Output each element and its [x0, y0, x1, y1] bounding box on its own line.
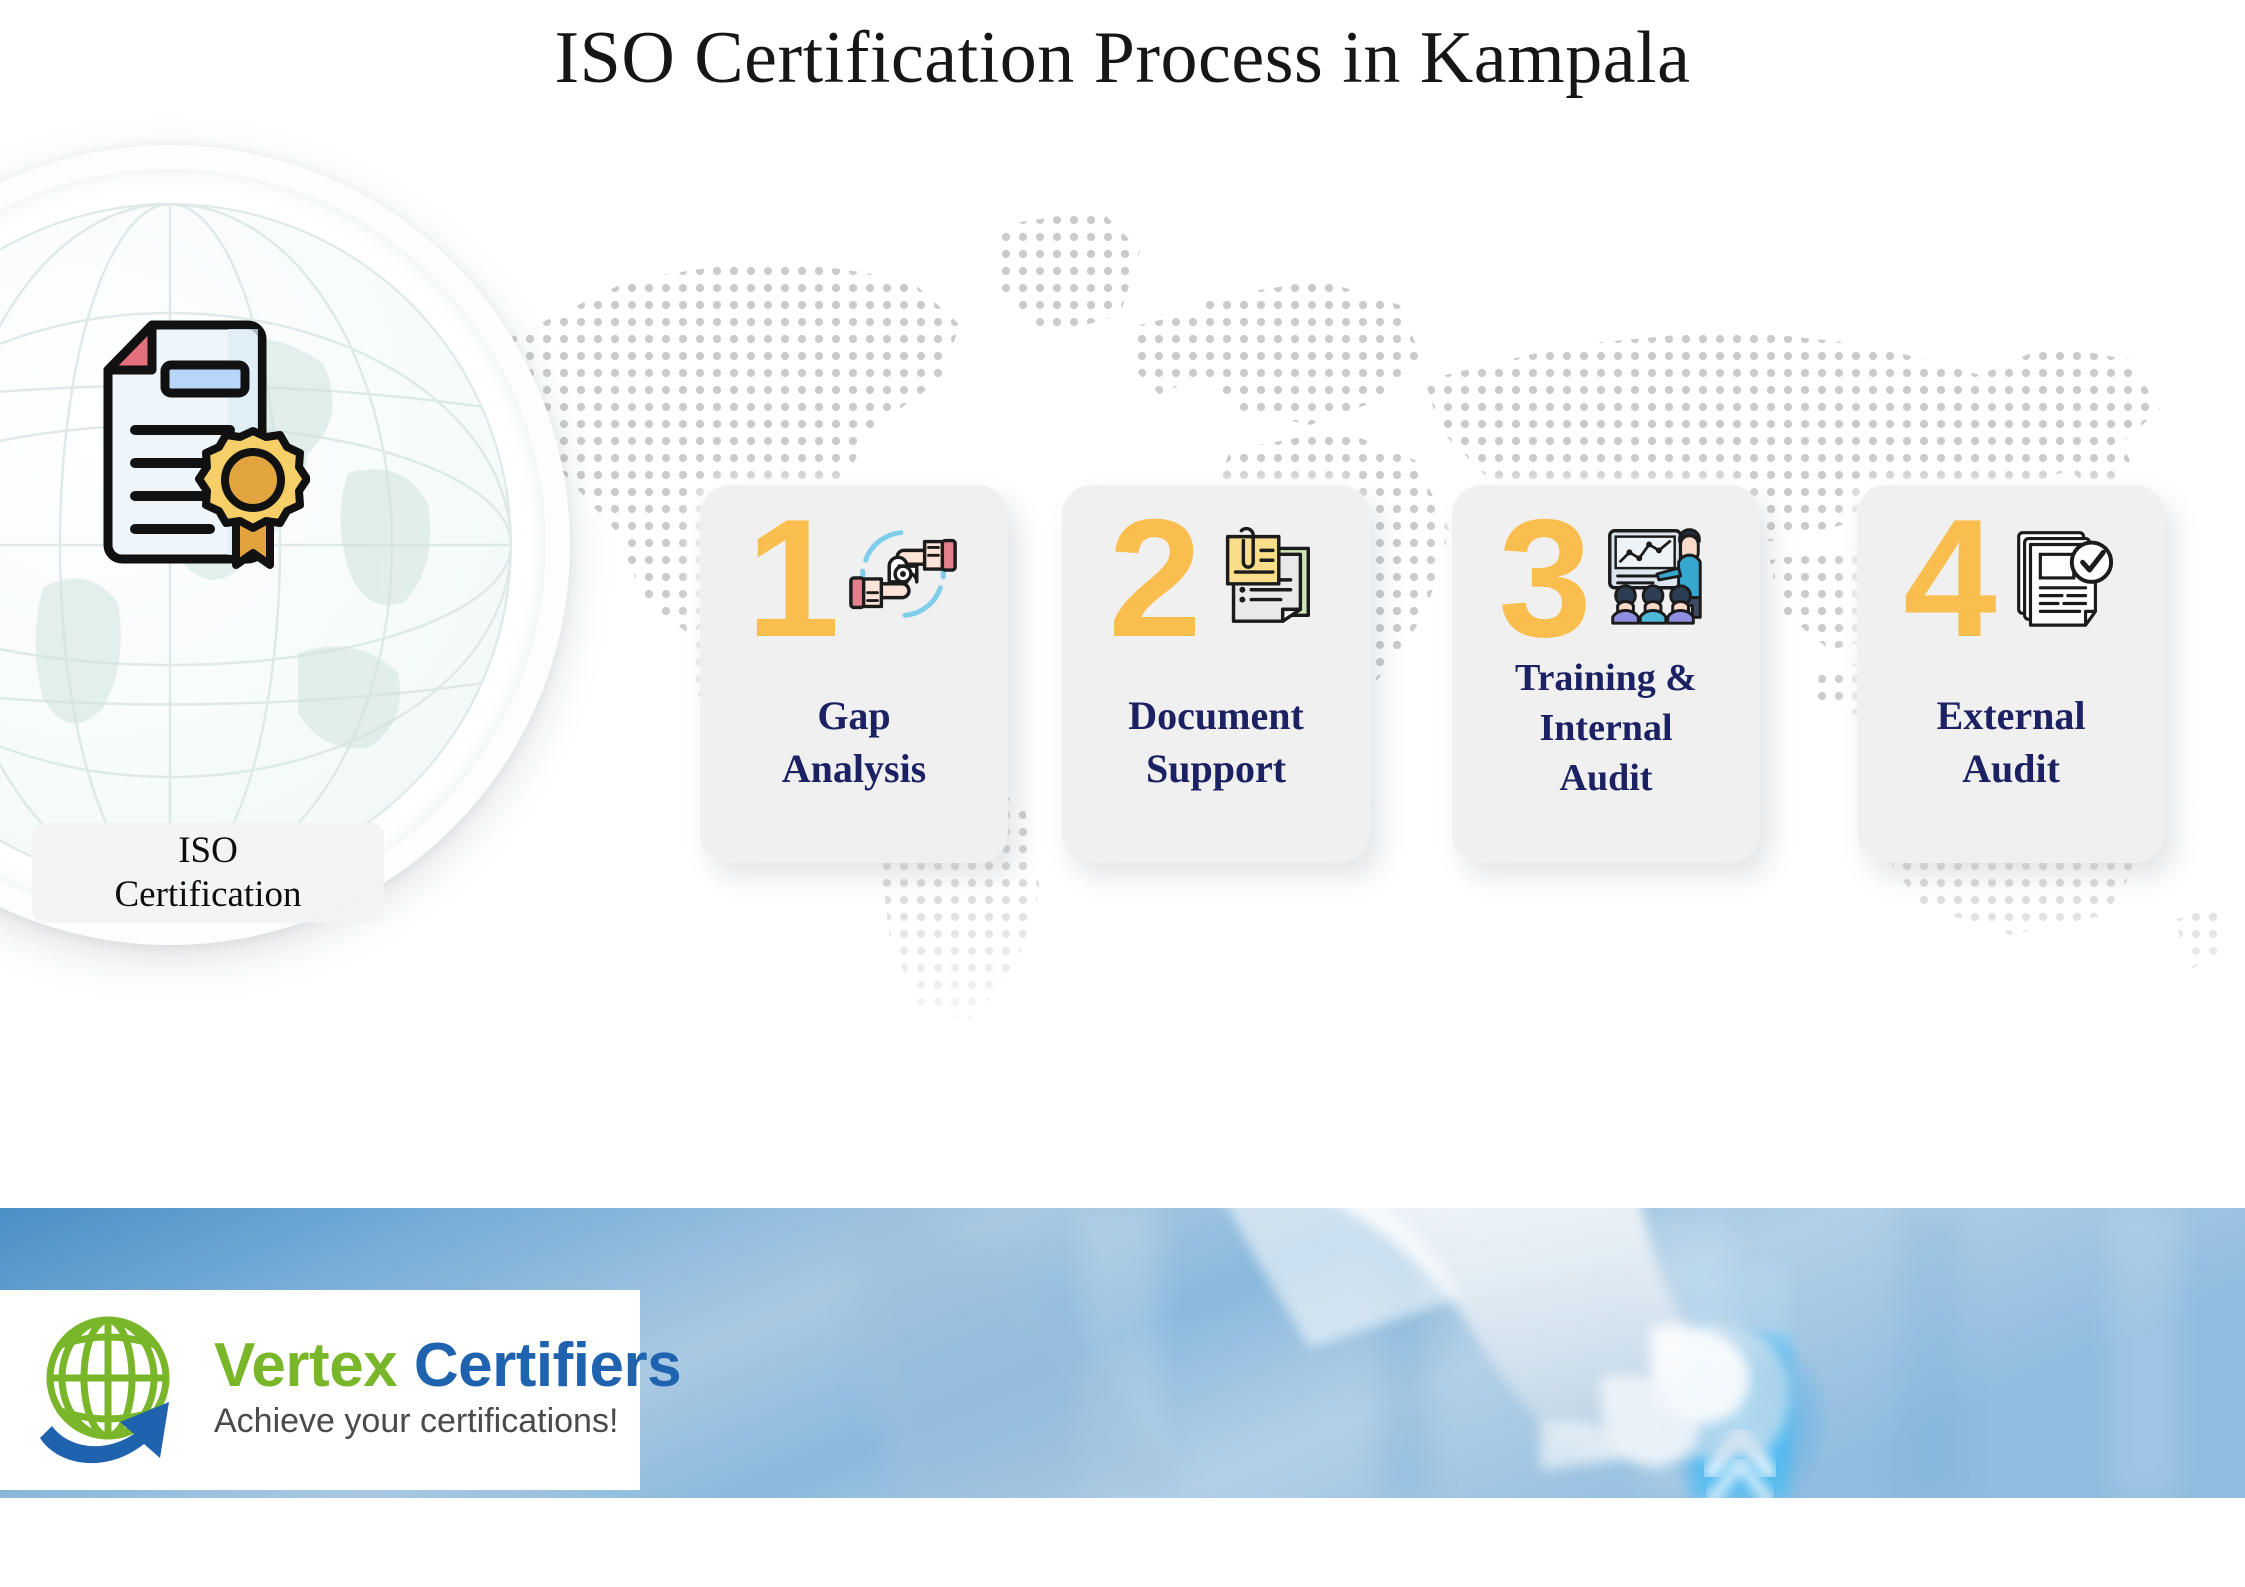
step-card-1[interactable]: 1	[700, 485, 1008, 863]
step-card-3[interactable]: 3	[1452, 485, 1760, 863]
teamwork-hands-circle-icon	[844, 515, 962, 633]
step-1-label-line-1: Gap	[708, 690, 1000, 743]
step-card-2-header: 2	[1062, 499, 1370, 649]
step-card-3-label: Training & Internal Audit	[1460, 653, 1752, 803]
step-card-4[interactable]: 4	[1857, 485, 2165, 863]
top-content-area: ISO Certification Process in Kampala	[0, 0, 2245, 1208]
step-card-4-header: 4	[1857, 499, 2165, 649]
step-card-1-header: 1	[700, 499, 1008, 649]
step-number-2: 2	[1108, 505, 1201, 653]
step-card-3-header: 3	[1452, 499, 1760, 649]
logo-name-part-1: Vertex	[214, 1331, 397, 1400]
page-title: ISO Certification Process in Kampala	[0, 16, 2245, 101]
step-number-1: 1	[746, 505, 839, 653]
vertex-globe-arrow-logo-icon	[28, 1306, 196, 1474]
step-number-4: 4	[1903, 505, 1996, 653]
step-card-2[interactable]: 2	[1062, 485, 1370, 863]
step-4-label-line-1: External	[1865, 690, 2157, 743]
step-card-4-label: External Audit	[1865, 690, 2157, 796]
step-number-3: 3	[1498, 505, 1591, 653]
step-4-label-line-2: Audit	[1865, 743, 2157, 796]
step-2-label-line-2: Support	[1070, 743, 1362, 796]
logo-tagline: Achieve your certifications!	[214, 1402, 681, 1441]
step-3-label-line-2: Internal	[1460, 703, 1752, 753]
step-card-1-label: Gap Analysis	[708, 690, 1000, 796]
logo-name: Vertex Certifiers	[214, 1333, 681, 1398]
infographic-canvas: ISO Certification Process in Kampala	[0, 0, 2245, 1587]
documents-checkmark-icon	[2001, 515, 2119, 633]
documents-clipboard-icon	[1206, 515, 1324, 633]
company-logo[interactable]: Vertex Certifiers Achieve your certifica…	[0, 1290, 640, 1490]
step-2-label-line-1: Document	[1070, 690, 1362, 743]
step-3-label-line-1: Training &	[1460, 653, 1752, 703]
step-card-2-label: Document Support	[1070, 690, 1362, 796]
step-1-label-line-2: Analysis	[708, 743, 1000, 796]
certificate-document-seal-icon	[60, 315, 310, 570]
logo-text-block: Vertex Certifiers Achieve your certifica…	[214, 1333, 681, 1441]
logo-name-part-2: Certifiers	[414, 1331, 681, 1400]
bottom-white-strip	[0, 1498, 2245, 1587]
training-presentation-icon	[1596, 515, 1714, 633]
iso-badge-line-2: Certification	[115, 873, 302, 917]
iso-badge-line-1: ISO	[178, 829, 238, 873]
iso-certification-badge-label: ISO Certification	[32, 823, 384, 923]
step-3-label-line-3: Audit	[1460, 753, 1752, 803]
